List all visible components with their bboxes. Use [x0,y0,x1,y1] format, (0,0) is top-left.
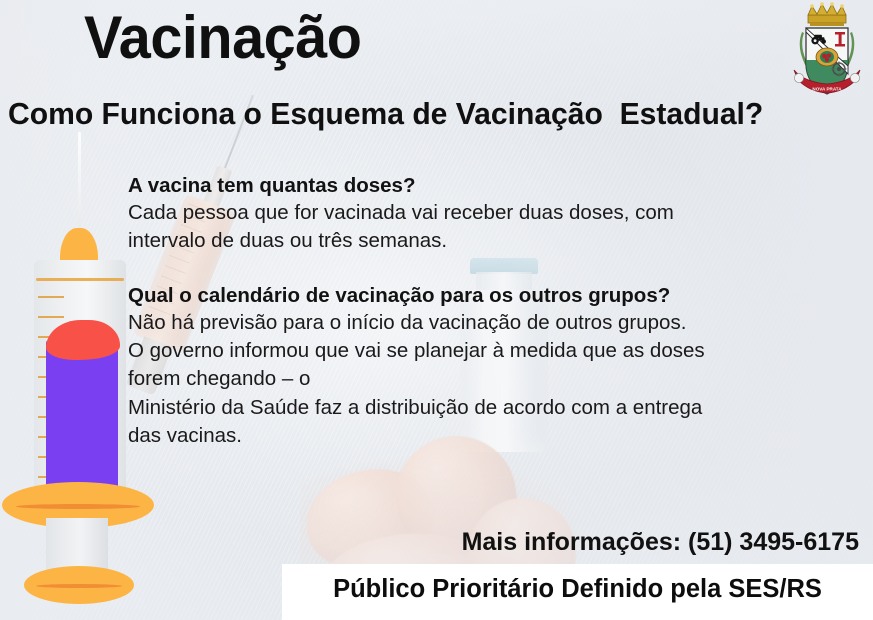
qa-block: A vacina tem quantas doses? Cada pessoa … [128,172,864,256]
priority-public-banner-text: Público Prioritário Definido pela SES/RS [282,575,873,604]
syringe-flange-highlight [16,504,140,509]
qa-block: Qual o calendário de vacinação para os o… [128,282,864,450]
answer-line: das vacinas. [128,422,864,450]
vaccination-infographic: Vacinação Como Funciona o Esquema de Vac… [0,0,873,620]
question-text: A vacina tem quantas doses? [128,172,864,199]
content-body: A vacina tem quantas doses? Cada pessoa … [128,172,864,450]
page-title: Vacinação [84,8,361,68]
block-spacer [128,256,864,282]
syringe-barrel-rim [36,278,124,281]
answer-line: Não há previsão para o início da vacinaç… [128,309,864,337]
page-subtitle: Como Funciona o Esquema de Vacinação Est… [8,98,763,129]
answer-line: intervalo de duas ou três semanas. [128,227,864,255]
crest-banner-text: NOVA PRATA [812,87,842,92]
answer-line: Cada pessoa que for vacinada vai receber… [128,199,864,227]
answer-line: Ministério da Saúde faz a distribuição d… [128,394,864,422]
syringe-liquid-surface [46,320,120,360]
contact-phone: Mais informações: (51) 3495-6175 [462,528,859,557]
syringe-thumb-rest-highlight [36,584,122,588]
answer-line: O governo informou que vai se planejar à… [128,337,864,365]
coat-of-arms-icon: NOVA PRATA [786,2,868,102]
answer-line: forem chegando – o [128,365,864,393]
question-text: Qual o calendário de vacinação para os o… [128,282,864,309]
priority-public-banner: Público Prioritário Definido pela SES/RS [282,564,873,620]
